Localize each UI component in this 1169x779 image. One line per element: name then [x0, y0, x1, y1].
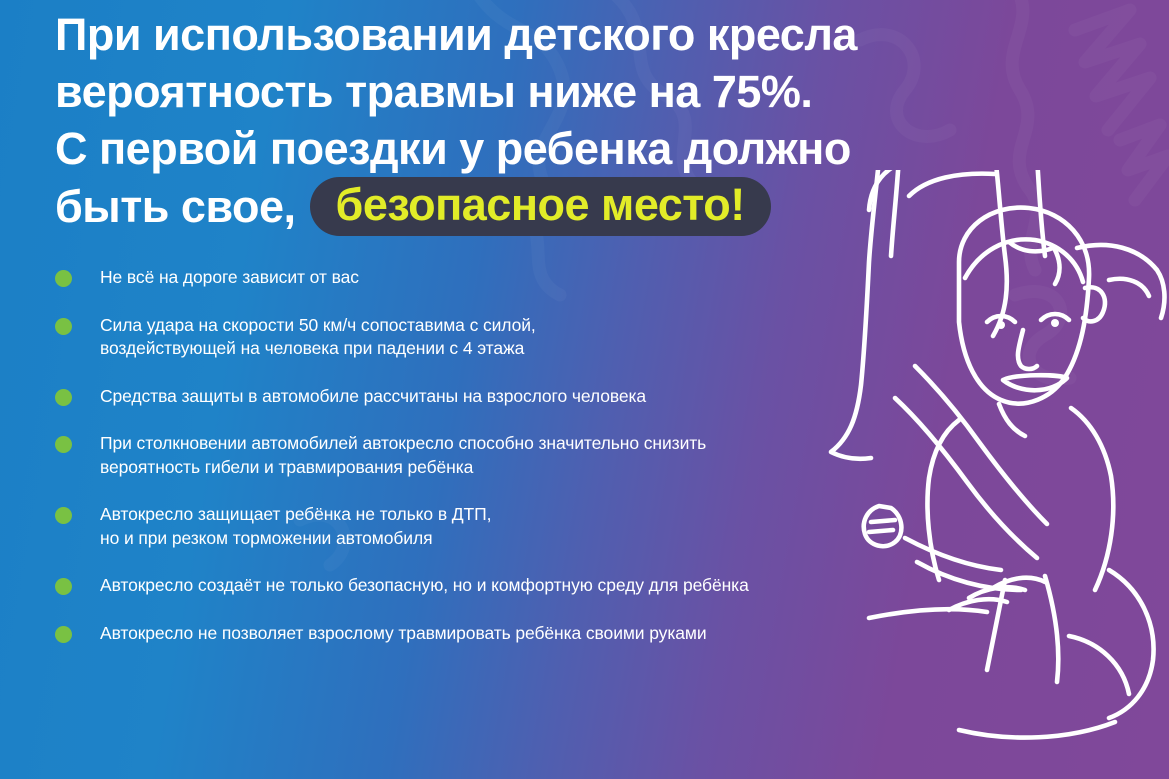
bullet-dot-icon — [55, 626, 72, 643]
page-title: При использовании детского кресла вероят… — [55, 6, 1005, 236]
list-item: Автокресло защищает ребёнка не только в … — [55, 503, 955, 550]
list-item: Автокресло создаёт не только безопасную,… — [55, 574, 955, 598]
list-item: При столкновении автомобилей автокресло … — [55, 432, 955, 479]
headline-line-4-prefix: быть свое, — [55, 178, 296, 235]
bullet-dot-icon — [55, 318, 72, 335]
list-item-label: Средства защиты в автомобиле рассчитаны … — [100, 385, 646, 409]
list-item-label: Сила удара на скорости 50 км/ч сопостави… — [100, 314, 536, 361]
list-item-label: Автокресло создаёт не только безопасную,… — [100, 574, 749, 598]
headline-line-2: вероятность травмы ниже на 75%. — [55, 63, 1005, 120]
bullet-dot-icon — [55, 436, 72, 453]
list-item: Автокресло не позволяет взрослому травми… — [55, 622, 955, 646]
list-item: Не всё на дороге зависит от вас — [55, 266, 955, 290]
status-badge: безопасное место! — [310, 177, 771, 236]
list-item-label: Не всё на дороге зависит от вас — [100, 266, 359, 290]
bullet-dot-icon — [55, 270, 72, 287]
bullet-dot-icon — [55, 507, 72, 524]
list-item: Сила удара на скорости 50 км/ч сопостави… — [55, 314, 955, 361]
list-item: Средства защиты в автомобиле рассчитаны … — [55, 385, 955, 409]
headline-line-3: С первой поездки у ребенка должно — [55, 120, 1005, 177]
bullet-dot-icon — [55, 578, 72, 595]
headline-line-4: быть свое, безопасное место! — [55, 177, 1005, 236]
headline-line-1: При использовании детского кресла — [55, 6, 1005, 63]
benefits-list: Не всё на дороге зависит от вас Сила уда… — [55, 266, 955, 669]
list-item-label: При столкновении автомобилей автокресло … — [100, 432, 706, 479]
poster-canvas: При использовании детского кресла вероят… — [0, 0, 1169, 779]
list-item-label: Автокресло не позволяет взрослому травми… — [100, 622, 707, 646]
bullet-dot-icon — [55, 389, 72, 406]
list-item-label: Автокресло защищает ребёнка не только в … — [100, 503, 491, 550]
